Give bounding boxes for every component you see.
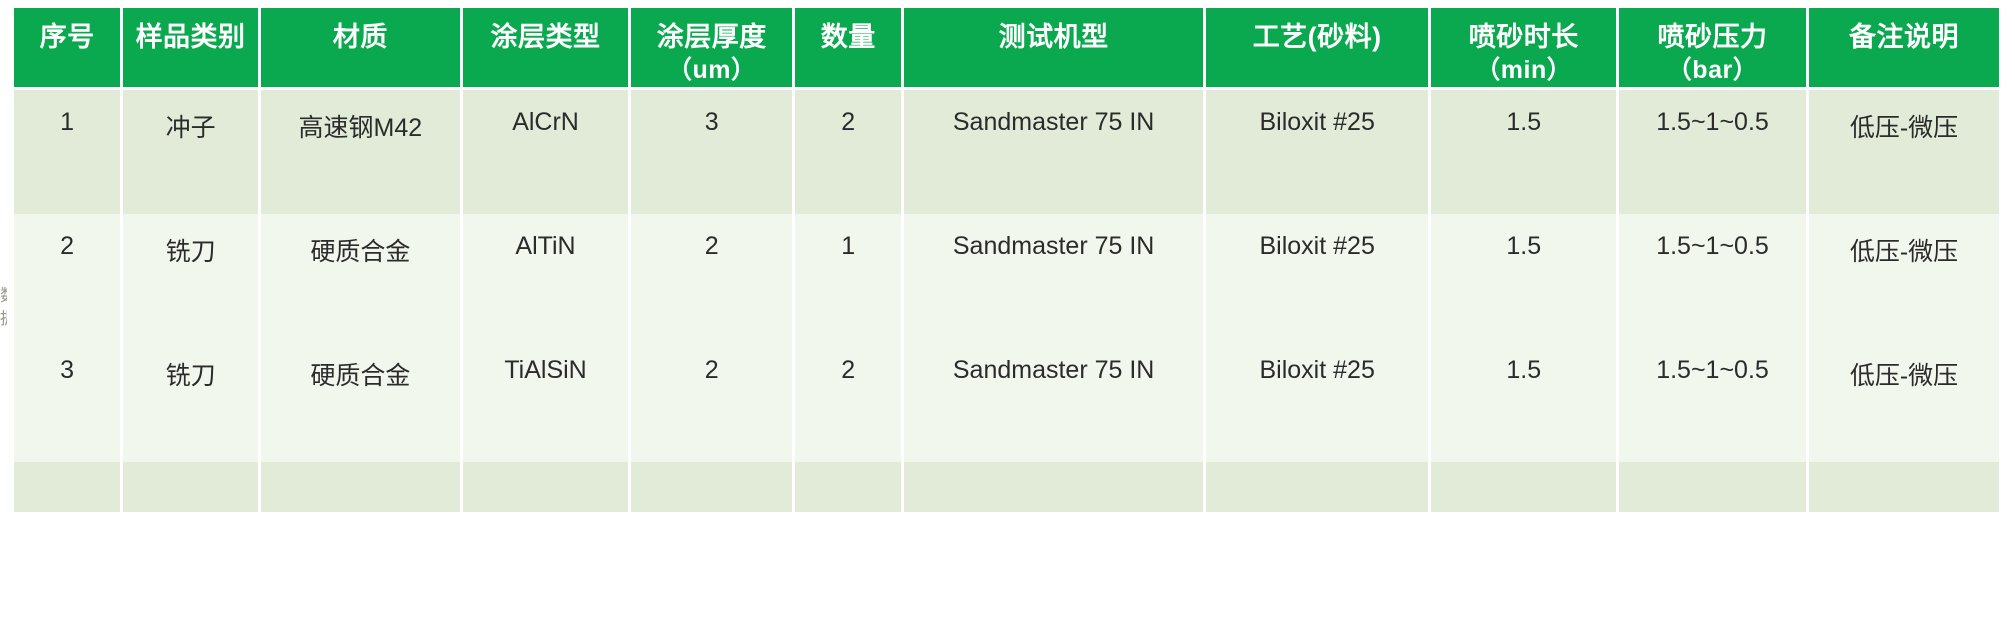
column-header-coating-type: 涂层类型 <box>463 8 632 90</box>
cell-test-machine: Sandmaster 75 IN <box>904 214 1206 338</box>
cell-remarks: 低压-微压 <box>1809 338 1999 462</box>
table-row: 1 冲子 高速钢M42 AlCrN 3 2 Sandmaster 75 IN B… <box>14 90 1999 214</box>
edge-clipped-glyph-1: 数 <box>0 287 7 304</box>
bottom-band-cell <box>904 462 1206 512</box>
cell-test-machine: Sandmaster 75 IN <box>904 90 1206 214</box>
cell-material: 硬质合金 <box>261 214 463 338</box>
cell-coating-thickness: 3 <box>631 90 795 214</box>
column-header-sample-type: 样品类别 <box>123 8 261 90</box>
cell-blast-pressure: 1.5~1~0.5 <box>1619 338 1809 462</box>
column-header-blast-time: 喷砂时长 （min） <box>1431 8 1619 90</box>
bottom-band-cell <box>1619 462 1809 512</box>
cell-coating-type: AlTiN <box>463 214 632 338</box>
column-header-test-machine-label: 测试机型 <box>999 22 1109 52</box>
cell-blast-pressure: 1.5~1~0.5 <box>1619 214 1809 338</box>
column-header-process-media: 工艺(砂料) <box>1206 8 1432 90</box>
table-row: 2 铣刀 硬质合金 AlTiN 2 1 Sandmaster 75 IN Bil… <box>14 214 1999 338</box>
cell-quantity: 2 <box>795 90 904 214</box>
cell-process-media: Biloxit #25 <box>1206 90 1432 214</box>
cell-coating-type: AlCrN <box>463 90 632 214</box>
cell-sample-type: 冲子 <box>123 90 261 214</box>
column-header-blast-pressure: 喷砂压力 （bar） <box>1619 8 1809 90</box>
column-header-remarks-label: 备注说明 <box>1849 22 1959 52</box>
cell-blast-time: 1.5 <box>1431 338 1619 462</box>
cell-seq: 1 <box>14 90 123 214</box>
column-header-process-media-label: 工艺(砂料) <box>1253 22 1382 52</box>
cell-material: 硬质合金 <box>261 338 463 462</box>
cell-seq: 2 <box>14 214 123 338</box>
cell-blast-time: 1.5 <box>1431 214 1619 338</box>
cell-material: 高速钢M42 <box>261 90 463 214</box>
column-header-blast-time-label: 喷砂时长 <box>1469 22 1579 52</box>
edge-clipped-glyph-2: 据 <box>0 310 7 327</box>
cell-process-media: Biloxit #25 <box>1206 214 1432 338</box>
bottom-band-cell <box>1206 462 1432 512</box>
cell-blast-pressure: 1.5~1~0.5 <box>1619 90 1809 214</box>
bottom-band-cell <box>1431 462 1619 512</box>
column-header-coating-thickness-unit: （um） <box>635 54 788 87</box>
sandblast-test-parameters-table: 序号 样品类别 材质 涂层类型 涂层厚度 （um） 数量 <box>14 8 1999 512</box>
header-row: 序号 样品类别 材质 涂层类型 涂层厚度 （um） 数量 <box>14 8 1999 90</box>
column-header-seq-label: 序号 <box>40 22 95 52</box>
cell-coating-type: TiAlSiN <box>463 338 632 462</box>
bottom-band-cell <box>14 462 123 512</box>
cell-process-media: Biloxit #25 <box>1206 338 1432 462</box>
table-header: 序号 样品类别 材质 涂层类型 涂层厚度 （um） 数量 <box>14 8 1999 90</box>
cell-coating-thickness: 2 <box>631 214 795 338</box>
bottom-band-cell <box>261 462 463 512</box>
bottom-band-cell <box>631 462 795 512</box>
table-row: 3 铣刀 硬质合金 TiAlSiN 2 2 Sandmaster 75 IN B… <box>14 338 1999 462</box>
column-header-coating-type-label: 涂层类型 <box>491 22 601 52</box>
bottom-band-cell <box>463 462 632 512</box>
column-header-quantity: 数量 <box>795 8 904 90</box>
cell-sample-type: 铣刀 <box>123 338 261 462</box>
column-header-material-label: 材质 <box>333 22 388 52</box>
cell-remarks: 低压-微压 <box>1809 90 1999 214</box>
column-header-test-machine: 测试机型 <box>904 8 1206 90</box>
cell-remarks: 低压-微压 <box>1809 214 1999 338</box>
table-body: 1 冲子 高速钢M42 AlCrN 3 2 Sandmaster 75 IN B… <box>14 90 1999 512</box>
column-header-coating-thickness-label: 涂层厚度 <box>657 22 767 52</box>
cell-coating-thickness: 2 <box>631 338 795 462</box>
cell-quantity: 2 <box>795 338 904 462</box>
column-header-remarks: 备注说明 <box>1809 8 1999 90</box>
column-header-blast-pressure-label: 喷砂压力 <box>1658 22 1768 52</box>
column-header-quantity-label: 数量 <box>821 22 876 52</box>
bottom-band-cell <box>795 462 904 512</box>
cell-blast-time: 1.5 <box>1431 90 1619 214</box>
column-header-blast-time-unit: （min） <box>1435 54 1612 87</box>
column-header-seq: 序号 <box>14 8 123 90</box>
table-bottom-band <box>14 462 1999 512</box>
column-header-blast-pressure-unit: （bar） <box>1623 54 1802 87</box>
bottom-band-cell <box>1809 462 1999 512</box>
cell-test-machine: Sandmaster 75 IN <box>904 338 1206 462</box>
column-header-material: 材质 <box>261 8 463 90</box>
column-header-sample-type-label: 样品类别 <box>136 22 246 52</box>
cell-sample-type: 铣刀 <box>123 214 261 338</box>
cell-quantity: 1 <box>795 214 904 338</box>
bottom-band-cell <box>123 462 261 512</box>
column-header-coating-thickness: 涂层厚度 （um） <box>631 8 795 90</box>
cell-seq: 3 <box>14 338 123 462</box>
table-container: 数 据 序号 样品类别 材质 <box>0 0 2015 637</box>
